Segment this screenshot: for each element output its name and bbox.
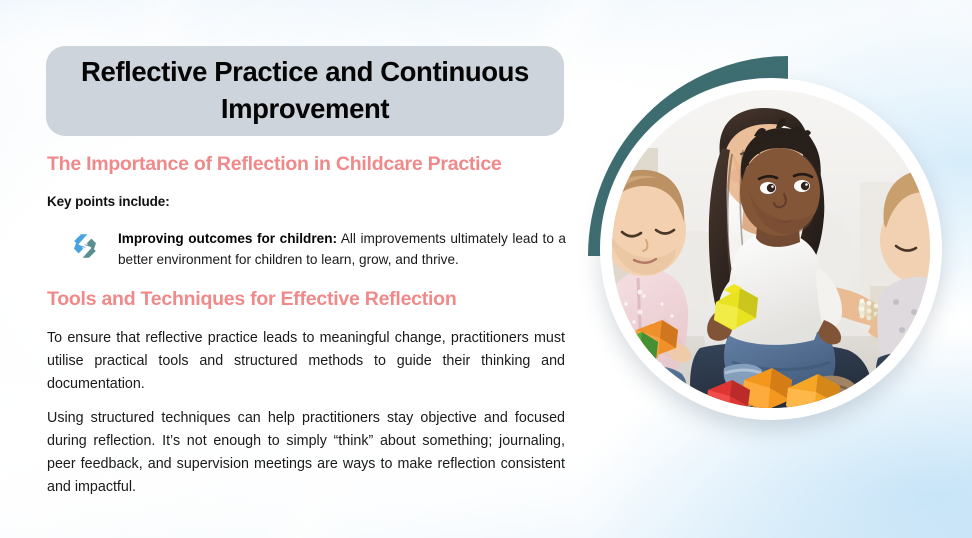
key-points-label: Key points include: [47, 194, 170, 209]
title-banner: Reflective Practice and Continuous Impro… [46, 46, 564, 136]
page-title: Reflective Practice and Continuous Impro… [46, 54, 564, 127]
slide-canvas: Reflective Practice and Continuous Impro… [0, 0, 972, 538]
photo-clip [612, 90, 930, 408]
photo-frame [600, 78, 942, 420]
bullet-lead: Improving outcomes for children: [118, 231, 337, 246]
childcare-photo [612, 90, 930, 408]
text-column: Reflective Practice and Continuous Impro… [46, 0, 566, 538]
bullet-text: Improving outcomes for children: All imp… [98, 228, 566, 270]
paragraph-1: To ensure that reflective practice leads… [47, 327, 565, 396]
image-panel [586, 48, 956, 448]
bullet-item: Improving outcomes for children: All imp… [72, 228, 566, 270]
paragraph-2: Using structured techniques can help pra… [47, 407, 565, 500]
section-heading-tools: Tools and Techniques for Effective Refle… [47, 288, 457, 311]
section-heading-importance: The Importance of Reflection in Childcar… [47, 153, 502, 176]
double-chevron-icon [72, 233, 98, 259]
